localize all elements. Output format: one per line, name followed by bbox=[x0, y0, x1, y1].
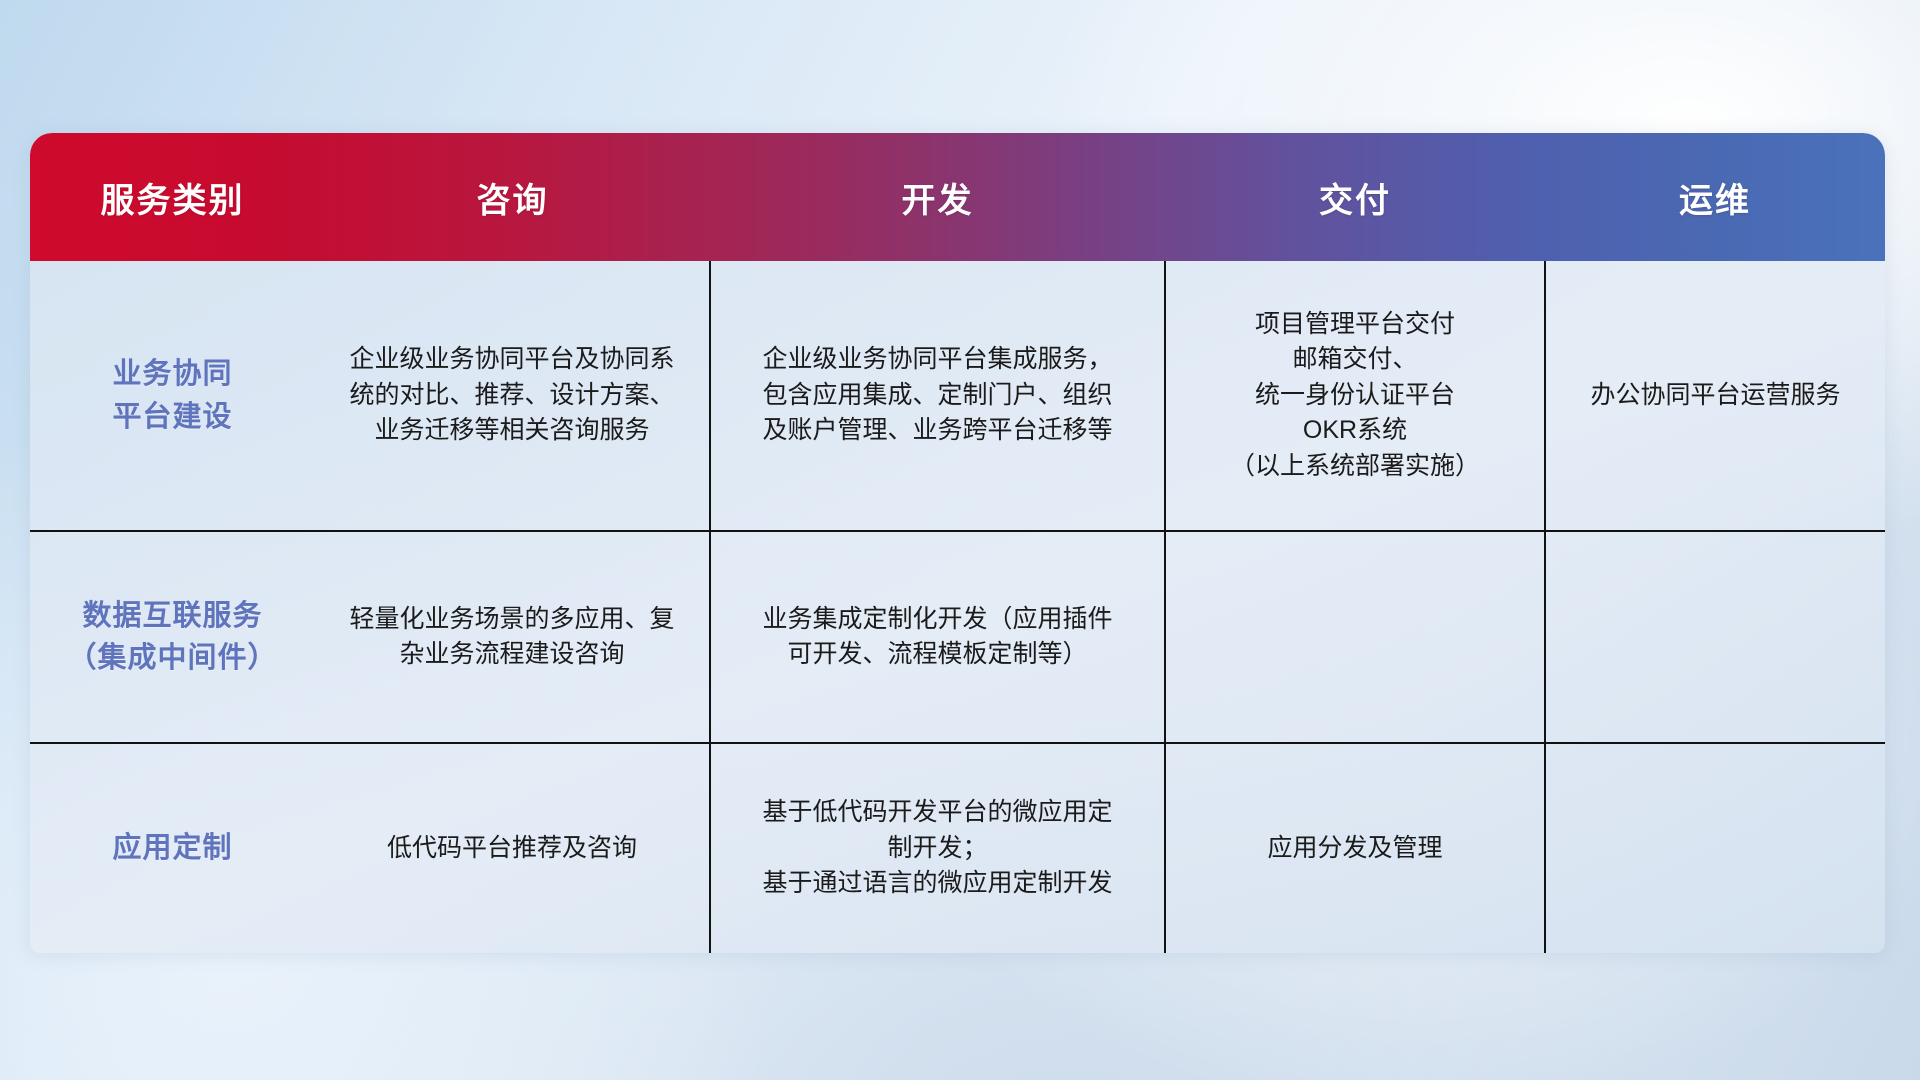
cell-delivery: 应用分发及管理 bbox=[1165, 743, 1545, 953]
cell-operations bbox=[1545, 743, 1885, 953]
table-row: 数据互联服务 （集成中间件） 轻量化业务场景的多应用、复 杂业务流程建设咨询 业… bbox=[30, 531, 1885, 743]
table-row: 应用定制 低代码平台推荐及咨询 基于低代码开发平台的微应用定 制开发； 基于通过… bbox=[30, 743, 1885, 953]
column-header-label: 咨询 bbox=[315, 173, 710, 222]
column-header-consulting: 咨询 bbox=[315, 133, 710, 261]
column-header-label: 运维 bbox=[1545, 173, 1885, 222]
table-header: 服务类别 咨询 开发 交付 运维 bbox=[30, 133, 1885, 261]
cell-development: 业务集成定制化开发（应用插件 可开发、流程模板定制等） bbox=[710, 531, 1165, 743]
column-header-label: 开发 bbox=[710, 173, 1165, 222]
column-header-label: 交付 bbox=[1165, 173, 1545, 222]
cell-development: 企业级业务协同平台集成服务， 包含应用集成、定制门户、组织 及账户管理、业务跨平… bbox=[710, 261, 1165, 531]
cell-delivery: 项目管理平台交付 邮箱交付、 统一身份认证平台 OKR系统 （以上系统部署实施） bbox=[1165, 261, 1545, 531]
table-header-row: 服务类别 咨询 开发 交付 运维 bbox=[30, 133, 1885, 261]
row-label: 数据互联服务 （集成中间件） bbox=[30, 531, 315, 743]
cell-delivery bbox=[1165, 531, 1545, 743]
cell-operations: 办公协同平台运营服务 bbox=[1545, 261, 1885, 531]
column-header-development: 开发 bbox=[710, 133, 1165, 261]
cell-consulting: 低代码平台推荐及咨询 bbox=[315, 743, 710, 953]
column-header-operations: 运维 bbox=[1545, 133, 1885, 261]
cell-consulting: 企业级业务协同平台及协同系 统的对比、推荐、设计方案、 业务迁移等相关咨询服务 bbox=[315, 261, 710, 531]
table-row: 业务协同 平台建设 企业级业务协同平台及协同系 统的对比、推荐、设计方案、 业务… bbox=[30, 261, 1885, 531]
row-label: 应用定制 bbox=[30, 743, 315, 953]
service-matrix-container: 服务类别 咨询 开发 交付 运维 业务协同 平台建设 企业级业务协同平台及协同 bbox=[30, 133, 1885, 953]
service-matrix-table: 服务类别 咨询 开发 交付 运维 业务协同 平台建设 企业级业务协同平台及协同 bbox=[30, 133, 1885, 953]
cell-development: 基于低代码开发平台的微应用定 制开发； 基于通过语言的微应用定制开发 bbox=[710, 743, 1165, 953]
cell-consulting: 轻量化业务场景的多应用、复 杂业务流程建设咨询 bbox=[315, 531, 710, 743]
column-header-label: 服务类别 bbox=[30, 173, 315, 222]
row-label: 业务协同 平台建设 bbox=[30, 261, 315, 531]
column-header-delivery: 交付 bbox=[1165, 133, 1545, 261]
column-header-service-category: 服务类别 bbox=[30, 133, 315, 261]
cell-operations bbox=[1545, 531, 1885, 743]
table-body: 业务协同 平台建设 企业级业务协同平台及协同系 统的对比、推荐、设计方案、 业务… bbox=[30, 261, 1885, 953]
